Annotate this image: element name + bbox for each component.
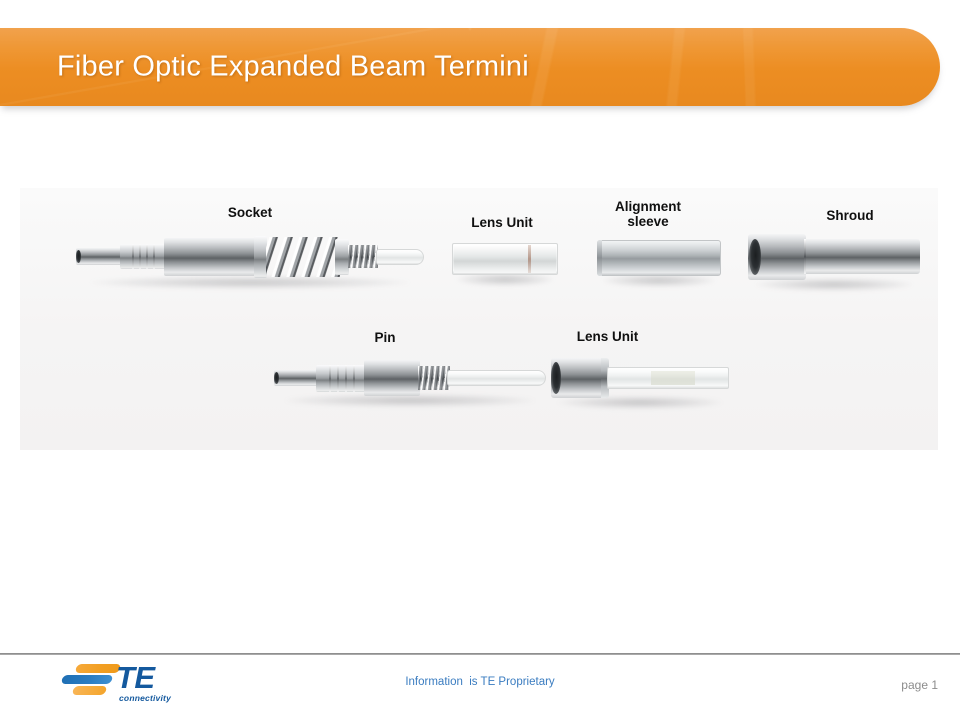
parts-diagram-panel: Socket Lens Unit Alignmen <box>20 188 938 450</box>
part-label-lens-unit-bottom: Lens Unit <box>545 329 670 344</box>
socket-spring-seat <box>335 239 349 275</box>
part-alignment-sleeve <box>597 240 721 276</box>
pin-ring <box>329 365 331 392</box>
pin-rear-barrel <box>274 370 318 386</box>
socket-main-body <box>164 238 257 276</box>
part-label-socket: Socket <box>170 205 330 220</box>
pin-rear-bore <box>274 372 279 384</box>
pin-main-body <box>364 360 420 396</box>
footer-divider <box>0 653 960 655</box>
part-lens-unit-bottom <box>551 358 729 398</box>
pin-ring <box>353 365 355 392</box>
part-pin <box>274 360 546 396</box>
socket-threads <box>348 245 378 268</box>
part-label-lens-unit-top: Lens Unit <box>442 215 562 230</box>
shroud-bore <box>749 239 761 275</box>
lens-unit-body-tint <box>651 371 695 385</box>
page-title: Fiber Optic Expanded Beam Termini <box>57 51 529 84</box>
part-label-shroud: Shroud <box>782 208 918 223</box>
pin-threads <box>418 366 450 390</box>
footer-proprietary-note: Information is TE Proprietary <box>0 676 960 688</box>
part-lens-unit-top <box>452 243 558 275</box>
alignment-sleeve-left-edge <box>597 240 602 276</box>
pin-ferrule <box>447 370 546 386</box>
socket-ring <box>132 244 134 269</box>
shroud-step-line <box>804 239 806 274</box>
pin-knurl-section <box>316 365 366 392</box>
lens-unit-collar-bore <box>551 362 561 394</box>
pin-ring <box>337 365 339 392</box>
socket-ring <box>139 244 141 269</box>
part-socket <box>76 236 424 278</box>
part-label-alignment-sleeve: Alignment sleeve <box>578 199 718 229</box>
logo-tagline: connectivity <box>119 693 171 703</box>
part-shadow <box>90 276 410 289</box>
title-banner: Fiber Optic Expanded Beam Termini <box>0 28 940 106</box>
alignment-sleeve-body <box>597 240 721 276</box>
pin-ring <box>345 365 347 392</box>
page-number: page 1 <box>901 678 938 692</box>
socket-rear-barrel <box>76 248 122 265</box>
socket-spring <box>266 237 340 277</box>
logo-bar-orange-icon <box>75 664 122 673</box>
part-label-pin: Pin <box>330 330 440 345</box>
socket-ring <box>153 244 155 269</box>
socket-knurl-step <box>120 244 166 269</box>
shroud-front-section <box>804 239 920 274</box>
socket-rear-bore <box>76 250 81 263</box>
lens-unit-seam <box>528 245 531 273</box>
socket-ring <box>146 244 148 269</box>
socket-ferrule <box>376 249 424 265</box>
part-shroud <box>748 234 920 280</box>
lens-unit-inner-gradient <box>454 245 556 273</box>
